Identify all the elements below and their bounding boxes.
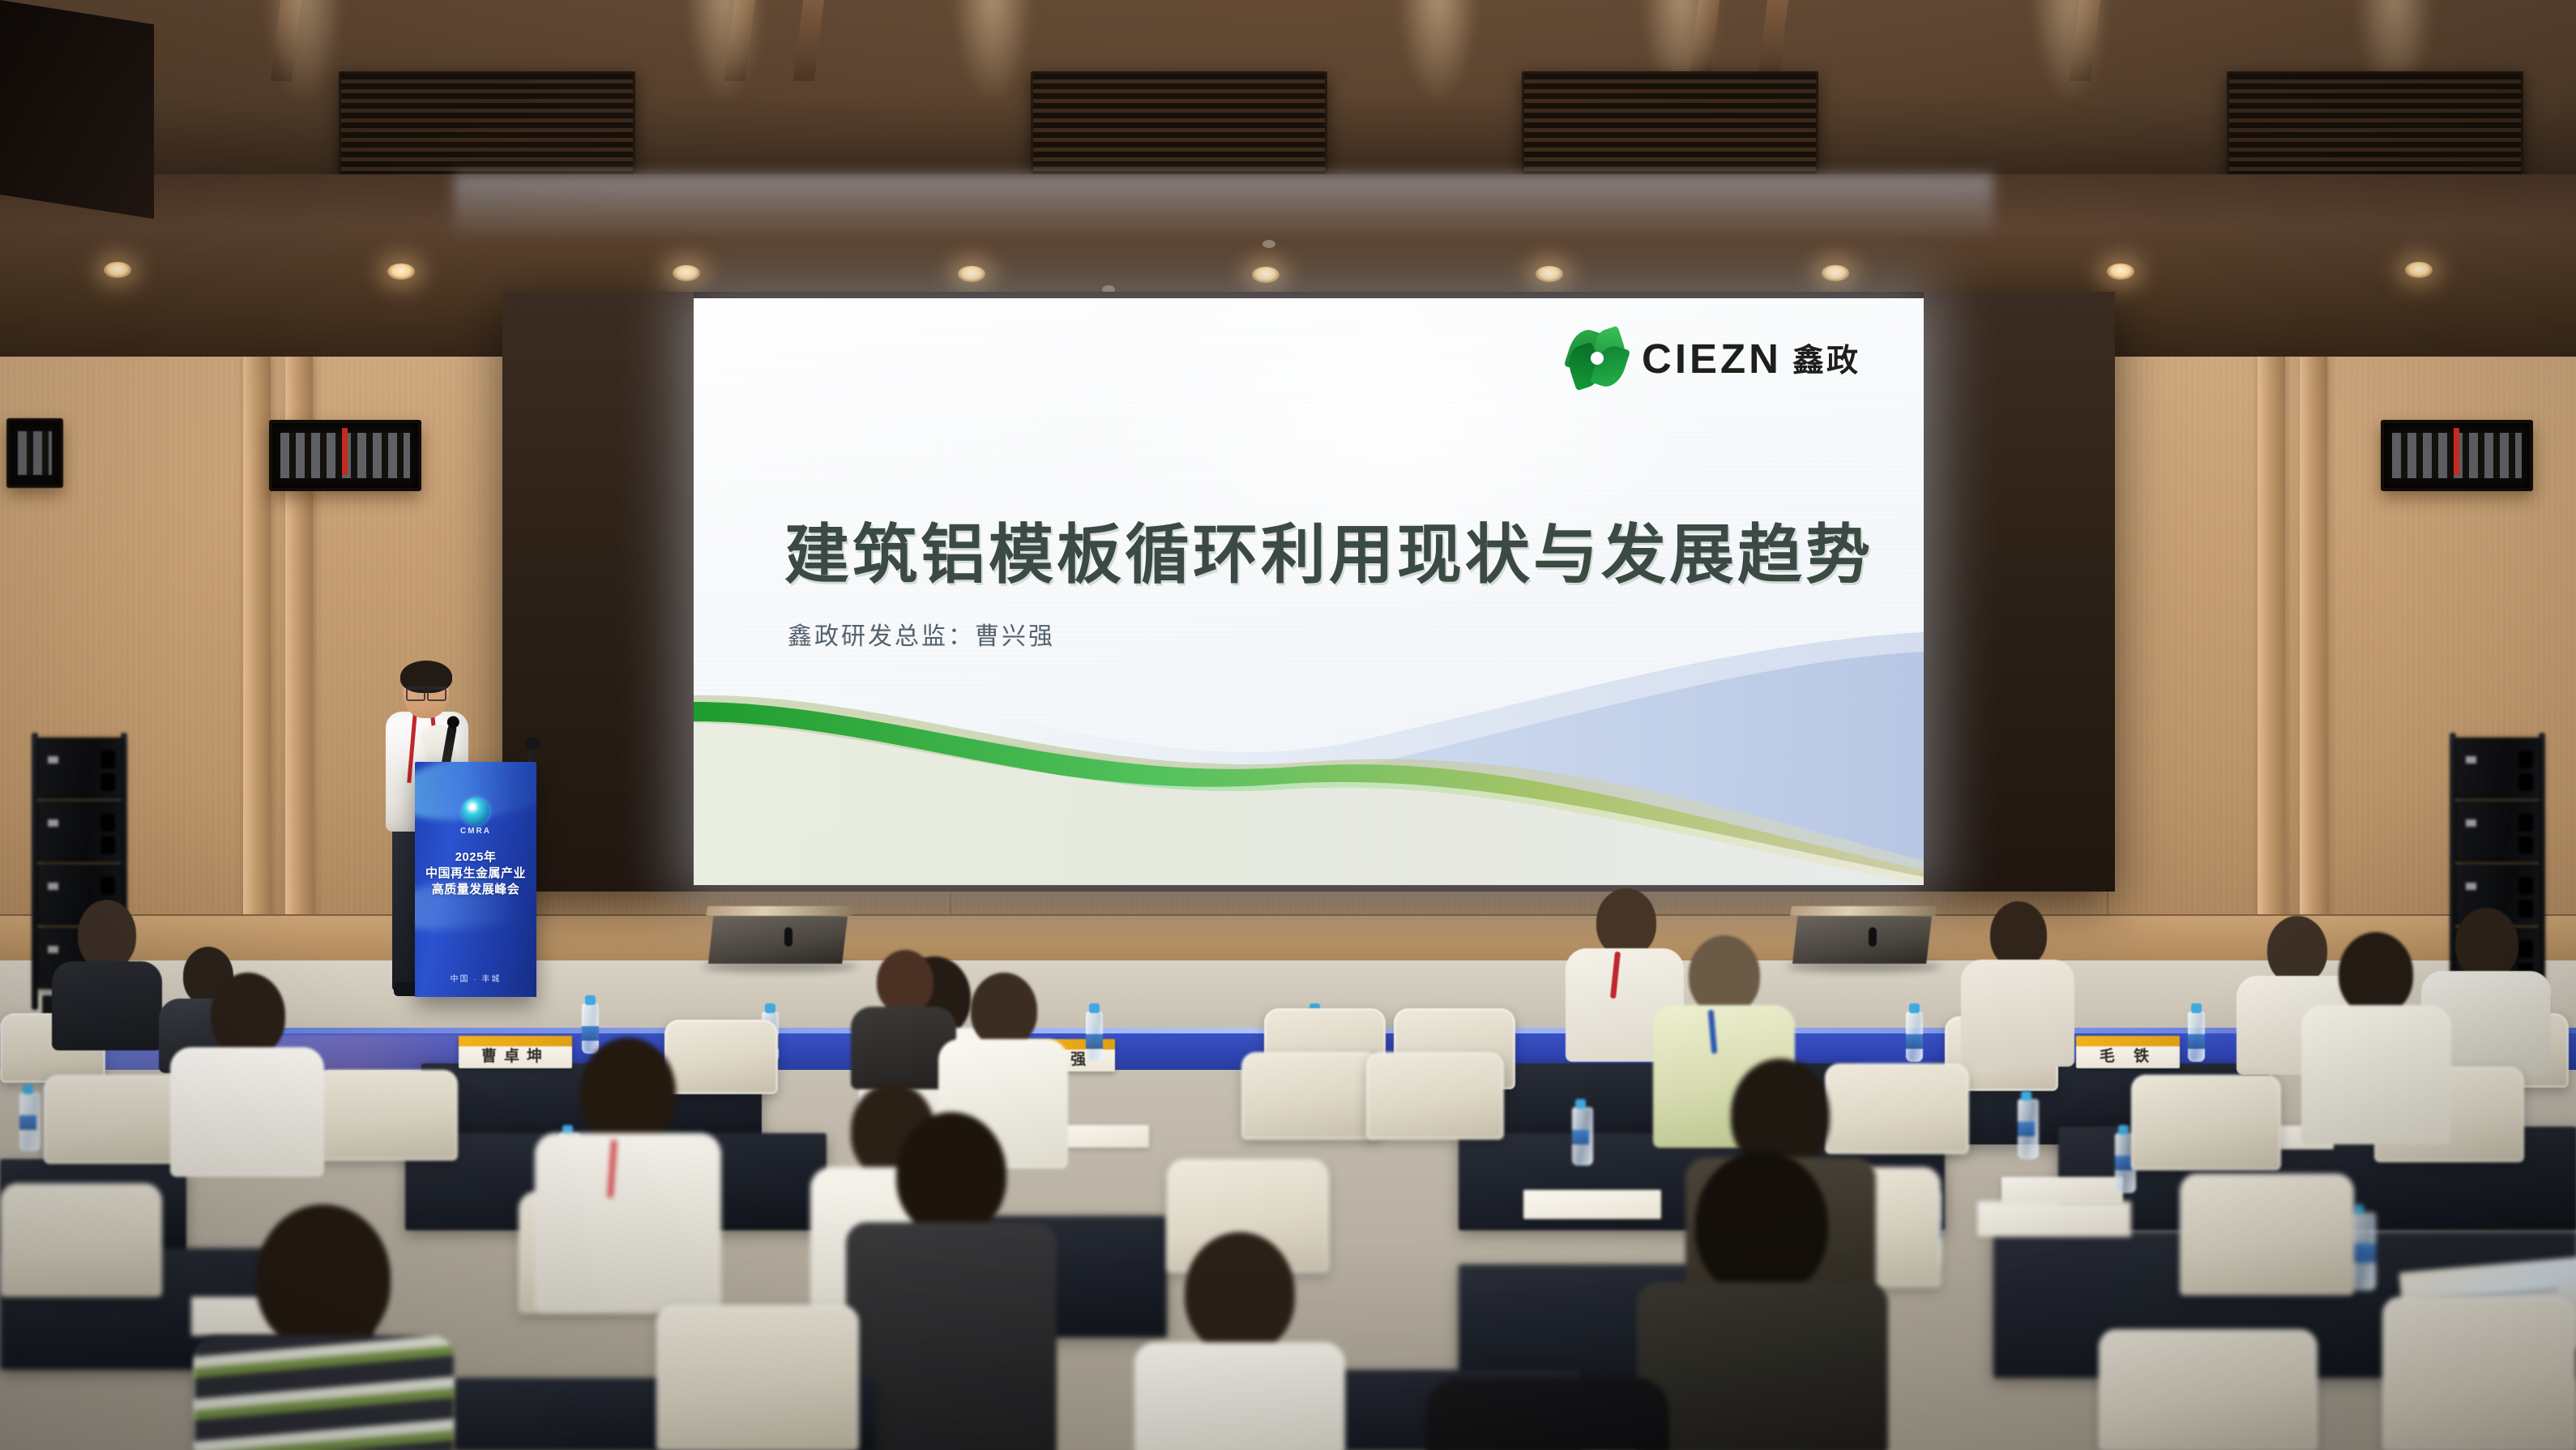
logo-latin-text: CIEZN — [1642, 335, 1782, 383]
wall-pillar — [2258, 357, 2285, 989]
presentation-slide: CIEZN 鑫政 建筑铝模板循环利用现状与发展趋势 鑫政研发总监：曹兴强 — [694, 298, 1924, 885]
ceiling-light-wash — [2010, 0, 2131, 178]
wall-pillar — [243, 357, 271, 989]
podium-line-3: 高质量发展峰会 — [415, 882, 536, 898]
audience-member — [1961, 901, 2074, 1063]
ceiling-light-wash — [664, 0, 786, 178]
ceiling-reflection — [454, 174, 1993, 239]
podium-line-1: 2025年 — [415, 849, 536, 866]
audience-member — [846, 1112, 1057, 1450]
chair — [44, 1075, 182, 1164]
cmra-logo: CMRA — [415, 798, 536, 836]
water-bottle-icon — [19, 1093, 41, 1151]
downlight-icon — [958, 266, 985, 282]
slide-subtitle: 鑫政研发总监：曹兴强 — [788, 616, 1055, 652]
chair — [2131, 1075, 2281, 1170]
chair — [2382, 1297, 2576, 1450]
water-bottle-icon — [1906, 1012, 1923, 1062]
slide-wave-graphic — [694, 618, 1924, 885]
ceiling-side-panel — [0, 0, 154, 219]
podium: CMRA 2025年 中国再生金属产业 高质量发展峰会 中国 · 丰城 — [415, 762, 536, 997]
name-card-label: 毛 铁 — [2076, 1046, 2180, 1067]
pinwheel-icon — [1568, 329, 1626, 387]
audience-member — [2301, 932, 2451, 1143]
downlight-icon — [387, 263, 415, 280]
water-bottle-icon — [1572, 1107, 1593, 1166]
wall-niche-left — [269, 420, 421, 491]
audience-member — [1134, 1232, 1345, 1450]
ceiling-light-wash — [1378, 0, 1499, 178]
wall-pillar — [2300, 357, 2327, 989]
downlight-icon — [104, 262, 131, 278]
handout-paper — [2001, 1177, 2123, 1204]
audience-member — [170, 973, 324, 1175]
chair — [316, 1070, 458, 1161]
downlight-icon — [673, 265, 700, 281]
downlight-icon — [1252, 267, 1279, 283]
led-screen-frame: CIEZN 鑫政 建筑铝模板循环利用现状与发展趋势 鑫政研发总监：曹兴强 — [502, 292, 2115, 892]
logo-cjk-text: 鑫政 — [1792, 336, 1860, 381]
wall-niche-far-left — [6, 418, 63, 488]
name-card-icon: 毛 铁 — [2076, 1036, 2180, 1068]
podium-text-block: 2025年 中国再生金属产业 高质量发展峰会 — [415, 849, 536, 898]
chair — [656, 1305, 859, 1450]
glasses-icon — [406, 687, 446, 698]
screen-side-panel-right — [1924, 292, 2115, 892]
stage-monitor-icon — [707, 906, 852, 969]
cmra-ring-icon — [462, 798, 489, 825]
audience-member — [1637, 1151, 1888, 1450]
cmra-logo-text: CMRA — [415, 827, 536, 836]
audience-member — [535, 1037, 721, 1305]
podium-line-2: 中国再生金属产业 — [415, 866, 536, 882]
wall-niche-right — [2381, 420, 2533, 491]
downlight-icon — [2107, 263, 2134, 280]
downlight-icon — [1822, 265, 1849, 281]
chair — [0, 1183, 162, 1297]
audience-member — [49, 900, 162, 1046]
chair — [1241, 1052, 1379, 1140]
audience-member — [1426, 1378, 1669, 1450]
downlight-icon — [1536, 266, 1563, 282]
notepad-paper — [1977, 1201, 2131, 1237]
stage-monitor-icon — [1791, 906, 1937, 969]
chair — [2099, 1329, 2318, 1450]
water-bottle-icon — [2018, 1099, 2039, 1159]
water-bottle-icon — [2188, 1012, 2205, 1062]
slide-title: 建筑铝模板循环利用现状与发展趋势 — [784, 503, 1873, 597]
smoke-detector-icon — [1262, 240, 1275, 248]
audience-member — [194, 1204, 454, 1450]
conference-hall-scene: CIEZN 鑫政 建筑铝模板循环利用现状与发展趋势 鑫政研发总监：曹兴强 — [0, 0, 2576, 1450]
water-bottle-icon — [1086, 1012, 1103, 1062]
chair — [2180, 1174, 2354, 1295]
slide-logo: CIEZN 鑫政 — [1568, 329, 1860, 387]
chair — [1366, 1052, 1504, 1140]
podium-footer-text: 中国 · 丰城 — [415, 972, 536, 984]
downlight-icon — [2405, 262, 2433, 278]
